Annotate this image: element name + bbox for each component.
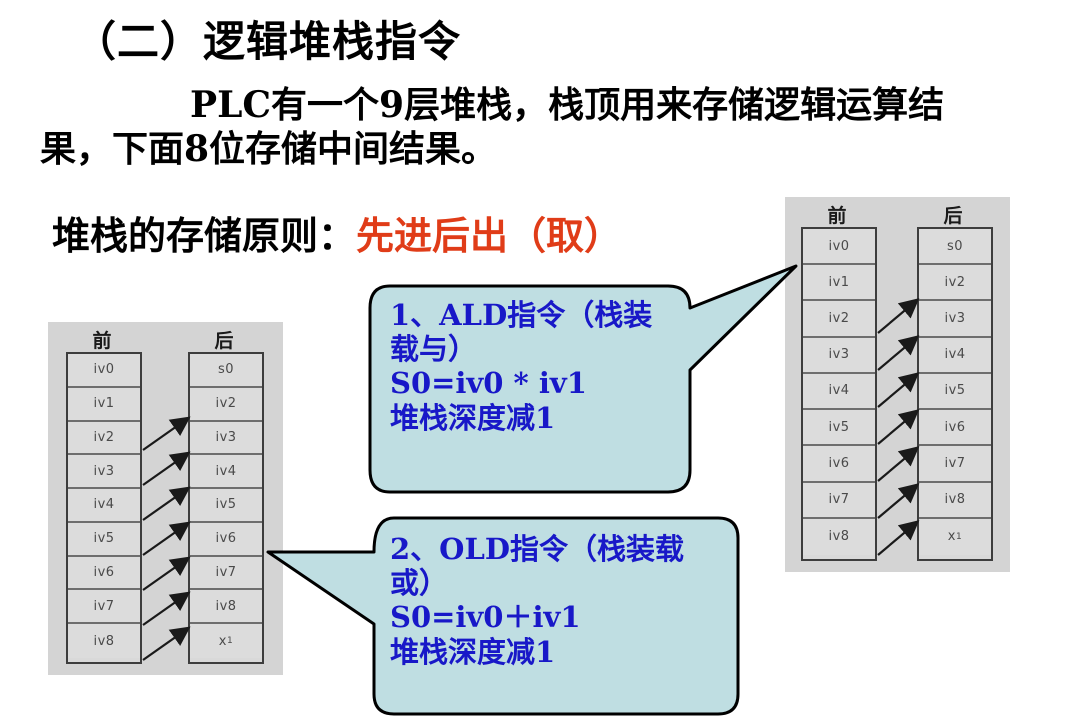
- stack-cell: iv7: [190, 557, 262, 591]
- stack-cell: iv1: [803, 265, 875, 301]
- diagram-header-after: 后: [184, 326, 264, 353]
- stack-cell: iv5: [190, 489, 262, 523]
- stack-column-before: iv0iv1iv2iv3iv4iv5iv6iv7iv8: [801, 227, 877, 561]
- stack-cell: iv2: [919, 265, 991, 301]
- callout-ald-text: 1、ALD指令（栈装 载与） S0=iv0 * iv1 堆栈深度减1: [390, 298, 690, 435]
- callout-old-line4: 堆栈深度减1: [390, 635, 555, 669]
- callout-old-line2: 或）: [390, 566, 448, 600]
- stack-cell: iv2: [803, 301, 875, 337]
- callout-old-line3: S0=iv0＋iv1: [390, 600, 581, 634]
- callout-ald[interactable]: 1、ALD指令（栈装 载与） S0=iv0 * iv1 堆栈深度减1: [368, 284, 808, 500]
- stack-cell: iv2: [68, 422, 140, 456]
- stack-cell: iv6: [190, 523, 262, 557]
- stack-cell: x1: [190, 624, 262, 658]
- storage-principle-value: 先进后出（取）: [356, 213, 622, 258]
- storage-principle-line: 堆栈的存储原则：先进后出（取）: [52, 205, 622, 260]
- stack-cell: iv5: [68, 523, 140, 557]
- stack-cell: iv3: [919, 301, 991, 337]
- stack-cell: iv1: [68, 388, 140, 422]
- body-paragraph: PLC有一个9层堆栈，栈顶用来存储逻辑运算结果，下面8位存储中间结果。: [40, 84, 1000, 172]
- callout-ald-line4: 堆栈深度减1: [390, 401, 555, 435]
- stack-cell: iv8: [68, 624, 140, 658]
- stack-cell-superscript: 1: [956, 532, 962, 542]
- storage-principle-label: 堆栈的存储原则：: [52, 213, 356, 258]
- stack-cell: iv4: [803, 374, 875, 410]
- callout-ald-line1: 1、ALD指令（栈装: [390, 298, 652, 332]
- stack-cell: iv7: [68, 590, 140, 624]
- callout-ald-line3: S0=iv0 * iv1: [390, 366, 587, 400]
- stack-cell: iv3: [803, 338, 875, 374]
- stack-cell: iv6: [803, 446, 875, 482]
- stack-cell: s0: [190, 354, 262, 388]
- callout-ald-line2: 载与）: [390, 332, 477, 366]
- stack-cell: iv6: [68, 557, 140, 591]
- stack-cell: iv3: [68, 455, 140, 489]
- stack-diagram-ald: 前 后 iv0iv1iv2iv3iv4iv5iv6iv7iv8 s0iv2iv3…: [785, 197, 1010, 572]
- stack-cell: iv8: [190, 590, 262, 624]
- stack-cell: iv5: [919, 374, 991, 410]
- stack-cell: iv6: [919, 410, 991, 446]
- slide-canvas: （二）逻辑堆栈指令 PLC有一个9层堆栈，栈顶用来存储逻辑运算结果，下面8位存储…: [0, 0, 1080, 717]
- stack-column-after: s0iv2iv3iv4iv5iv6iv7iv8x1: [188, 352, 264, 664]
- stack-cell: iv7: [803, 483, 875, 519]
- stack-cell: iv3: [190, 422, 262, 456]
- stack-cell: iv4: [919, 338, 991, 374]
- stack-cell-superscript: 1: [227, 636, 233, 646]
- stack-cell: iv4: [190, 455, 262, 489]
- page-title: （二）逻辑堆栈指令: [74, 8, 461, 69]
- callout-old-text: 2、OLD指令（栈装载 或） S0=iv0＋iv1 堆栈深度减1: [390, 532, 740, 669]
- diagram-header-before: 前: [797, 201, 877, 228]
- stack-cell: iv7: [919, 446, 991, 482]
- stack-cell: iv2: [190, 388, 262, 422]
- stack-column-before: iv0iv1iv2iv3iv4iv5iv6iv7iv8: [66, 352, 142, 664]
- stack-cell: iv0: [68, 354, 140, 388]
- diagram-header-before: 前: [62, 326, 142, 353]
- callout-old-line1: 2、OLD指令（栈装载: [390, 532, 684, 566]
- stack-cell: x1: [919, 519, 991, 555]
- stack-cell: s0: [919, 229, 991, 265]
- stack-cell: iv5: [803, 410, 875, 446]
- stack-cell: iv8: [803, 519, 875, 555]
- stack-cell: iv8: [919, 483, 991, 519]
- diagram-header-after: 后: [913, 201, 993, 228]
- stack-cell: iv4: [68, 489, 140, 523]
- stack-diagram-old: 前 后 iv0iv1iv2iv3iv4iv5iv6iv7iv8 s0iv2iv3…: [48, 322, 283, 675]
- callout-old[interactable]: 2、OLD指令（栈装载 或） S0=iv0＋iv1 堆栈深度减1: [266, 512, 746, 717]
- stack-column-after: s0iv2iv3iv4iv5iv6iv7iv8x1: [917, 227, 993, 561]
- stack-cell: iv0: [803, 229, 875, 265]
